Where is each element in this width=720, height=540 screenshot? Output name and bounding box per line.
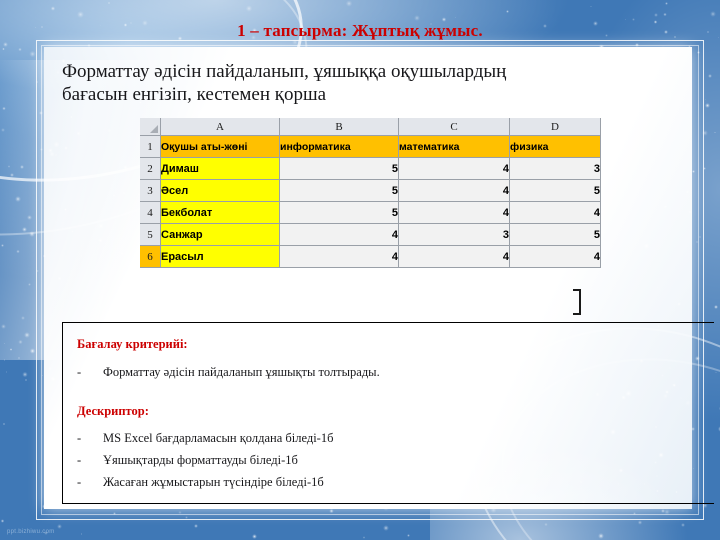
page-title: 1 – тапсырма: Жұптық жұмыс. (0, 21, 720, 41)
table-row: 1 Оқушы аты-жөні информатика математика … (140, 136, 601, 158)
descriptor-item-3: - Жасаған жұмыстарын түсіндіре біледі-1б (77, 475, 324, 490)
table-row: 5 Санжар 4 3 5 (140, 224, 601, 246)
criteria-item-1-text: Форматтау әдісін пайдаланып ұяшықты толт… (103, 365, 380, 380)
cell-c2[interactable]: 4 (399, 158, 510, 180)
descriptor-item-2: - Ұяшықтарды форматтауды біледі-1б (77, 453, 298, 468)
cell-a6[interactable]: Ерасыл (161, 246, 280, 268)
cell-b6[interactable]: 4 (280, 246, 399, 268)
descriptor-item-2-text: Ұяшықтарды форматтауды біледі-1б (103, 453, 298, 468)
bullet-dash-icon: - (77, 453, 103, 468)
row-number-6[interactable]: 6 (140, 246, 161, 268)
column-header-row: A B C D (140, 118, 601, 136)
cell-b1[interactable]: информатика (280, 136, 399, 158)
descriptor-heading: Дескриптор: (77, 404, 149, 419)
cell-c5[interactable]: 3 (399, 224, 510, 246)
spreadsheet-table[interactable]: A B C D 1 Оқушы аты-жөні информатика мат… (140, 118, 601, 268)
bullet-dash-icon: - (77, 431, 103, 446)
cell-a3[interactable]: Әсел (161, 180, 280, 202)
row-number-5[interactable]: 5 (140, 224, 161, 246)
column-header-a[interactable]: A (161, 118, 280, 136)
descriptor-item-1: - MS Excel бағдарламасын қолдана біледі-… (77, 431, 333, 446)
cell-c6[interactable]: 4 (399, 246, 510, 268)
cell-c4[interactable]: 4 (399, 202, 510, 224)
select-all-icon[interactable] (140, 118, 161, 136)
bullet-dash-icon: - (77, 475, 103, 490)
cell-b3[interactable]: 5 (280, 180, 399, 202)
cell-a2[interactable]: Димаш (161, 158, 280, 180)
table-row: 3 Әсел 5 4 5 (140, 180, 601, 202)
cell-d3[interactable]: 5 (510, 180, 601, 202)
row-number-4[interactable]: 4 (140, 202, 161, 224)
cell-c1[interactable]: математика (399, 136, 510, 158)
cell-b2[interactable]: 5 (280, 158, 399, 180)
column-header-b[interactable]: B (280, 118, 399, 136)
criteria-item-1: - Форматтау әдісін пайдаланып ұяшықты то… (77, 365, 380, 380)
table-row: 2 Димаш 5 4 3 (140, 158, 601, 180)
task-instruction: Форматтау әдісін пайдаланып, ұяшыққа оқу… (62, 60, 562, 106)
cell-a5[interactable]: Санжар (161, 224, 280, 246)
row-number-1[interactable]: 1 (140, 136, 161, 158)
table-row: 6 Ерасыл 4 4 4 (140, 246, 601, 268)
cell-a4[interactable]: Бекболат (161, 202, 280, 224)
descriptor-item-3-text: Жасаған жұмыстарын түсіндіре біледі-1б (103, 475, 324, 490)
assessment-criteria-box: Бағалау критерийі: - Форматтау әдісін па… (62, 322, 714, 504)
cell-d1[interactable]: физика (510, 136, 601, 158)
watermark-label: ppt.bizhiwu.com (7, 529, 55, 535)
column-header-d[interactable]: D (510, 118, 601, 136)
cell-d4[interactable]: 4 (510, 202, 601, 224)
cell-b5[interactable]: 4 (280, 224, 399, 246)
slide-canvas: 1 – тапсырма: Жұптық жұмыс. Форматтау әд… (0, 0, 720, 540)
cell-a1[interactable]: Оқушы аты-жөні (161, 136, 280, 158)
descriptor-item-1-text: MS Excel бағдарламасын қолдана біледі-1б (103, 431, 333, 446)
row-number-2[interactable]: 2 (140, 158, 161, 180)
cell-d2[interactable]: 3 (510, 158, 601, 180)
bullet-dash-icon: - (77, 365, 103, 380)
criteria-heading: Бағалау критерийі: (77, 337, 188, 352)
cell-d6[interactable]: 4 (510, 246, 601, 268)
row-number-3[interactable]: 3 (140, 180, 161, 202)
table-row: 4 Бекболат 5 4 4 (140, 202, 601, 224)
cell-b4[interactable]: 5 (280, 202, 399, 224)
cell-c3[interactable]: 4 (399, 180, 510, 202)
cell-d5[interactable]: 5 (510, 224, 601, 246)
column-header-c[interactable]: C (399, 118, 510, 136)
